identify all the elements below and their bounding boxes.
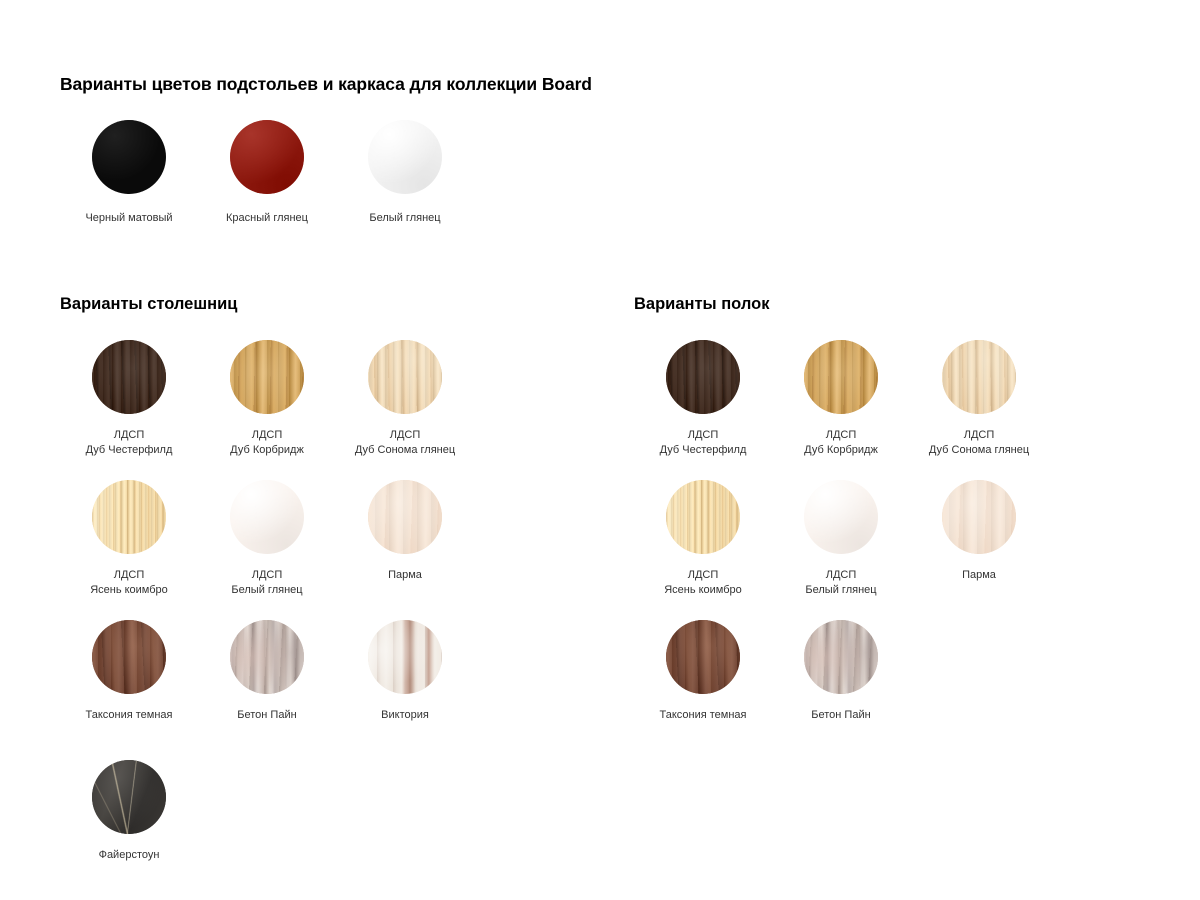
swatch-sheen-layer xyxy=(92,760,166,834)
shelf-swatch-дуб-сонома-глянец[interactable]: ЛДСПДуб Сонома глянец xyxy=(910,340,1048,457)
shelf-swatch-парма[interactable]: Парма xyxy=(910,480,1048,583)
swatch-color-disc[interactable] xyxy=(92,620,166,694)
tabletops-section-title: Варианты столешниц xyxy=(60,295,237,314)
swatch-grain-layer xyxy=(92,620,166,694)
swatch-grain-layer xyxy=(666,340,740,414)
swatch-label: ЛДСПБелый глянец xyxy=(198,568,336,597)
swatch-grain-layer xyxy=(804,620,878,694)
swatch-grain-layer xyxy=(804,620,878,694)
swatch-label-line1: ЛДСП xyxy=(910,428,1048,443)
swatch-sheen-layer xyxy=(368,480,442,554)
swatch-label-line2: Дуб Сонома глянец xyxy=(336,443,474,458)
swatch-grain-layer xyxy=(230,480,304,554)
swatch-color-disc[interactable] xyxy=(804,340,878,414)
swatch-label: ЛДСПБелый глянец xyxy=(772,568,910,597)
swatch-grain-layer xyxy=(666,620,740,694)
swatch-grain-layer xyxy=(942,340,1016,414)
swatch-grain-layer xyxy=(368,480,442,554)
swatch-label: Парма xyxy=(910,568,1048,583)
tabletop-swatch-файерстоун[interactable]: Файерстоун xyxy=(60,760,198,863)
swatch-sheen-layer xyxy=(92,620,166,694)
swatch-label-line1: ЛДСП xyxy=(198,568,336,583)
swatch-label-line1: Виктория xyxy=(336,708,474,723)
swatch-grain-layer xyxy=(92,120,166,194)
swatch-color-disc[interactable] xyxy=(666,620,740,694)
frame-finish-swatch-красный-глянец[interactable]: Красный глянец xyxy=(198,120,336,226)
swatch-label-line2: Дуб Честерфилд xyxy=(60,443,198,458)
swatch-label-line1: Бетон Пайн xyxy=(772,708,910,723)
swatch-sheen-layer xyxy=(92,120,166,194)
swatch-color-disc[interactable] xyxy=(230,340,304,414)
swatch-label: Белый глянец xyxy=(336,211,474,226)
swatch-sheen-layer xyxy=(666,620,740,694)
swatch-label-line1: Файерстоун xyxy=(60,848,198,863)
swatch-label-line2: Дуб Честерфилд xyxy=(634,443,772,458)
shelf-swatch-дуб-честерфилд[interactable]: ЛДСПДуб Честерфилд xyxy=(634,340,772,457)
swatch-grain-layer xyxy=(942,340,1016,414)
swatch-grain-layer xyxy=(368,120,442,194)
swatch-label-line2: Белый глянец xyxy=(772,583,910,598)
swatch-label-line1: Парма xyxy=(910,568,1048,583)
swatch-color-disc[interactable] xyxy=(230,120,304,194)
swatch-sheen-layer xyxy=(804,480,878,554)
color-options-page: Варианты цветов подстольев и каркаса для… xyxy=(0,0,1200,900)
swatch-grain-layer xyxy=(804,480,878,554)
swatch-grain-layer xyxy=(92,340,166,414)
swatch-grain-layer xyxy=(230,480,304,554)
swatch-color-disc[interactable] xyxy=(666,340,740,414)
swatch-grain-layer xyxy=(666,480,740,554)
swatch-grain-layer xyxy=(92,480,166,554)
swatch-color-disc[interactable] xyxy=(230,620,304,694)
tabletop-swatch-дуб-честерфилд[interactable]: ЛДСПДуб Честерфилд xyxy=(60,340,198,457)
frame-finish-swatch-черный-матовый[interactable]: Черный матовый xyxy=(60,120,198,226)
swatch-label-line1: Бетон Пайн xyxy=(198,708,336,723)
swatch-grain-layer xyxy=(804,340,878,414)
shelf-swatch-ясень-коимбро[interactable]: ЛДСПЯсень коимбро xyxy=(634,480,772,597)
swatch-sheen-layer xyxy=(804,620,878,694)
swatch-sheen-layer xyxy=(942,480,1016,554)
swatch-grain-layer xyxy=(92,620,166,694)
swatch-grain-layer xyxy=(230,620,304,694)
swatch-label: Файерстоун xyxy=(60,848,198,863)
swatch-label-line2: Ясень коимбро xyxy=(634,583,772,598)
swatch-grain-layer xyxy=(942,480,1016,554)
swatch-color-disc[interactable] xyxy=(666,480,740,554)
swatch-grain-layer xyxy=(804,480,878,554)
swatch-grain-layer xyxy=(230,120,304,194)
swatch-grain-layer xyxy=(230,340,304,414)
swatch-grain-layer xyxy=(942,480,1016,554)
swatch-color-disc[interactable] xyxy=(942,480,1016,554)
swatch-label-line1: ЛДСП xyxy=(336,428,474,443)
swatch-color-disc[interactable] xyxy=(92,480,166,554)
swatch-label: Бетон Пайн xyxy=(198,708,336,723)
swatch-sheen-layer xyxy=(368,120,442,194)
swatch-sheen-layer xyxy=(666,340,740,414)
frame-finish-swatch-белый-глянец[interactable]: Белый глянец xyxy=(336,120,474,226)
swatch-sheen-layer xyxy=(230,620,304,694)
swatch-color-disc[interactable] xyxy=(92,760,166,834)
swatch-label-line1: ЛДСП xyxy=(772,568,910,583)
swatch-grain-layer xyxy=(92,480,166,554)
swatch-grain-layer xyxy=(92,760,166,834)
tabletop-swatch-белый-глянец[interactable]: ЛДСПБелый глянец xyxy=(198,480,336,597)
swatch-label: Черный матовый xyxy=(60,211,198,226)
swatch-sheen-layer xyxy=(804,340,878,414)
swatch-label: ЛДСПДуб Сонома глянец xyxy=(910,428,1048,457)
swatch-color-disc[interactable] xyxy=(92,340,166,414)
shelf-swatch-бетон-пайн[interactable]: Бетон Пайн xyxy=(772,620,910,723)
swatch-sheen-layer xyxy=(368,340,442,414)
swatch-label-line1: ЛДСП xyxy=(634,568,772,583)
swatch-label-line2: Дуб Корбридж xyxy=(198,443,336,458)
tabletop-swatch-парма[interactable]: Парма xyxy=(336,480,474,583)
swatch-grain-layer xyxy=(230,620,304,694)
shelf-swatch-дуб-корбридж[interactable]: ЛДСПДуб Корбридж xyxy=(772,340,910,457)
swatch-label-line1: ЛДСП xyxy=(198,428,336,443)
swatch-color-disc[interactable] xyxy=(942,340,1016,414)
swatch-label: ЛДСПДуб Сонома глянец xyxy=(336,428,474,457)
swatch-grain-layer xyxy=(92,760,166,834)
swatch-label-line2: Дуб Корбридж xyxy=(772,443,910,458)
swatch-label: Красный глянец xyxy=(198,211,336,226)
tabletop-swatch-дуб-сонома-глянец[interactable]: ЛДСПДуб Сонома глянец xyxy=(336,340,474,457)
swatch-sheen-layer xyxy=(666,480,740,554)
swatch-label-line2: Дуб Сонома глянец xyxy=(910,443,1048,458)
swatch-color-disc[interactable] xyxy=(92,120,166,194)
tabletop-swatch-виктория[interactable]: Виктория xyxy=(336,620,474,723)
swatch-sheen-layer xyxy=(92,480,166,554)
swatch-color-disc[interactable] xyxy=(368,480,442,554)
swatch-grain-layer xyxy=(368,620,442,694)
swatch-grain-layer xyxy=(368,340,442,414)
swatch-label-line1: ЛДСП xyxy=(772,428,910,443)
swatch-label-line1: ЛДСП xyxy=(634,428,772,443)
swatch-sheen-layer xyxy=(230,340,304,414)
swatch-color-disc[interactable] xyxy=(804,620,878,694)
shelves-section-title: Варианты полок xyxy=(634,295,769,314)
swatch-grain-layer xyxy=(92,120,166,194)
swatch-grain-layer xyxy=(804,340,878,414)
swatch-label-line1: Белый глянец xyxy=(336,211,474,226)
swatch-label-line1: Таксония темная xyxy=(60,708,198,723)
swatch-label: ЛДСПДуб Честерфилд xyxy=(634,428,772,457)
swatch-grain-layer xyxy=(230,120,304,194)
swatch-sheen-layer xyxy=(230,480,304,554)
swatch-color-disc[interactable] xyxy=(368,620,442,694)
swatch-label: ЛДСПДуб Честерфилд xyxy=(60,428,198,457)
swatch-grain-layer xyxy=(230,340,304,414)
tabletop-swatch-ясень-коимбро[interactable]: ЛДСПЯсень коимбро xyxy=(60,480,198,597)
shelf-swatch-таксония-темная[interactable]: Таксония темная xyxy=(634,620,772,723)
swatch-label-line1: Парма xyxy=(336,568,474,583)
swatch-grain-layer xyxy=(368,340,442,414)
swatch-label-line1: ЛДСП xyxy=(60,568,198,583)
swatch-grain-layer xyxy=(92,340,166,414)
swatch-sheen-layer xyxy=(942,340,1016,414)
swatch-label-line2: Белый глянец xyxy=(198,583,336,598)
swatch-color-disc[interactable] xyxy=(368,120,442,194)
swatch-color-disc[interactable] xyxy=(804,480,878,554)
swatch-grain-layer xyxy=(368,120,442,194)
swatch-sheen-layer xyxy=(230,120,304,194)
swatch-label: ЛДСПДуб Корбридж xyxy=(198,428,336,457)
swatch-label-line1: ЛДСП xyxy=(60,428,198,443)
swatch-label: ЛДСПЯсень коимбро xyxy=(60,568,198,597)
swatch-label: Виктория xyxy=(336,708,474,723)
tabletop-swatch-таксония-темная[interactable]: Таксония темная xyxy=(60,620,198,723)
swatch-color-disc[interactable] xyxy=(230,480,304,554)
swatch-label: Парма xyxy=(336,568,474,583)
swatch-grain-layer xyxy=(368,620,442,694)
swatch-sheen-layer xyxy=(92,340,166,414)
tabletop-swatch-бетон-пайн[interactable]: Бетон Пайн xyxy=(198,620,336,723)
swatch-label-line2: Ясень коимбро xyxy=(60,583,198,598)
swatch-label-line1: Таксония темная xyxy=(634,708,772,723)
swatch-color-disc[interactable] xyxy=(368,340,442,414)
shelf-swatch-белый-глянец[interactable]: ЛДСПБелый глянец xyxy=(772,480,910,597)
swatch-label-line1: Красный глянец xyxy=(198,211,336,226)
tabletop-swatch-дуб-корбридж[interactable]: ЛДСПДуб Корбридж xyxy=(198,340,336,457)
swatch-grain-layer xyxy=(666,340,740,414)
swatch-grain-layer xyxy=(368,480,442,554)
swatch-label: Таксония темная xyxy=(634,708,772,723)
swatch-grain-layer xyxy=(666,620,740,694)
swatch-label: Бетон Пайн xyxy=(772,708,910,723)
swatch-sheen-layer xyxy=(368,620,442,694)
swatch-grain-layer xyxy=(666,480,740,554)
swatch-label: ЛДСПДуб Корбридж xyxy=(772,428,910,457)
swatch-label-line1: Черный матовый xyxy=(60,211,198,226)
swatch-label: ЛДСПЯсень коимбро xyxy=(634,568,772,597)
page-title: Варианты цветов подстольев и каркаса для… xyxy=(60,74,592,95)
swatch-label: Таксония темная xyxy=(60,708,198,723)
